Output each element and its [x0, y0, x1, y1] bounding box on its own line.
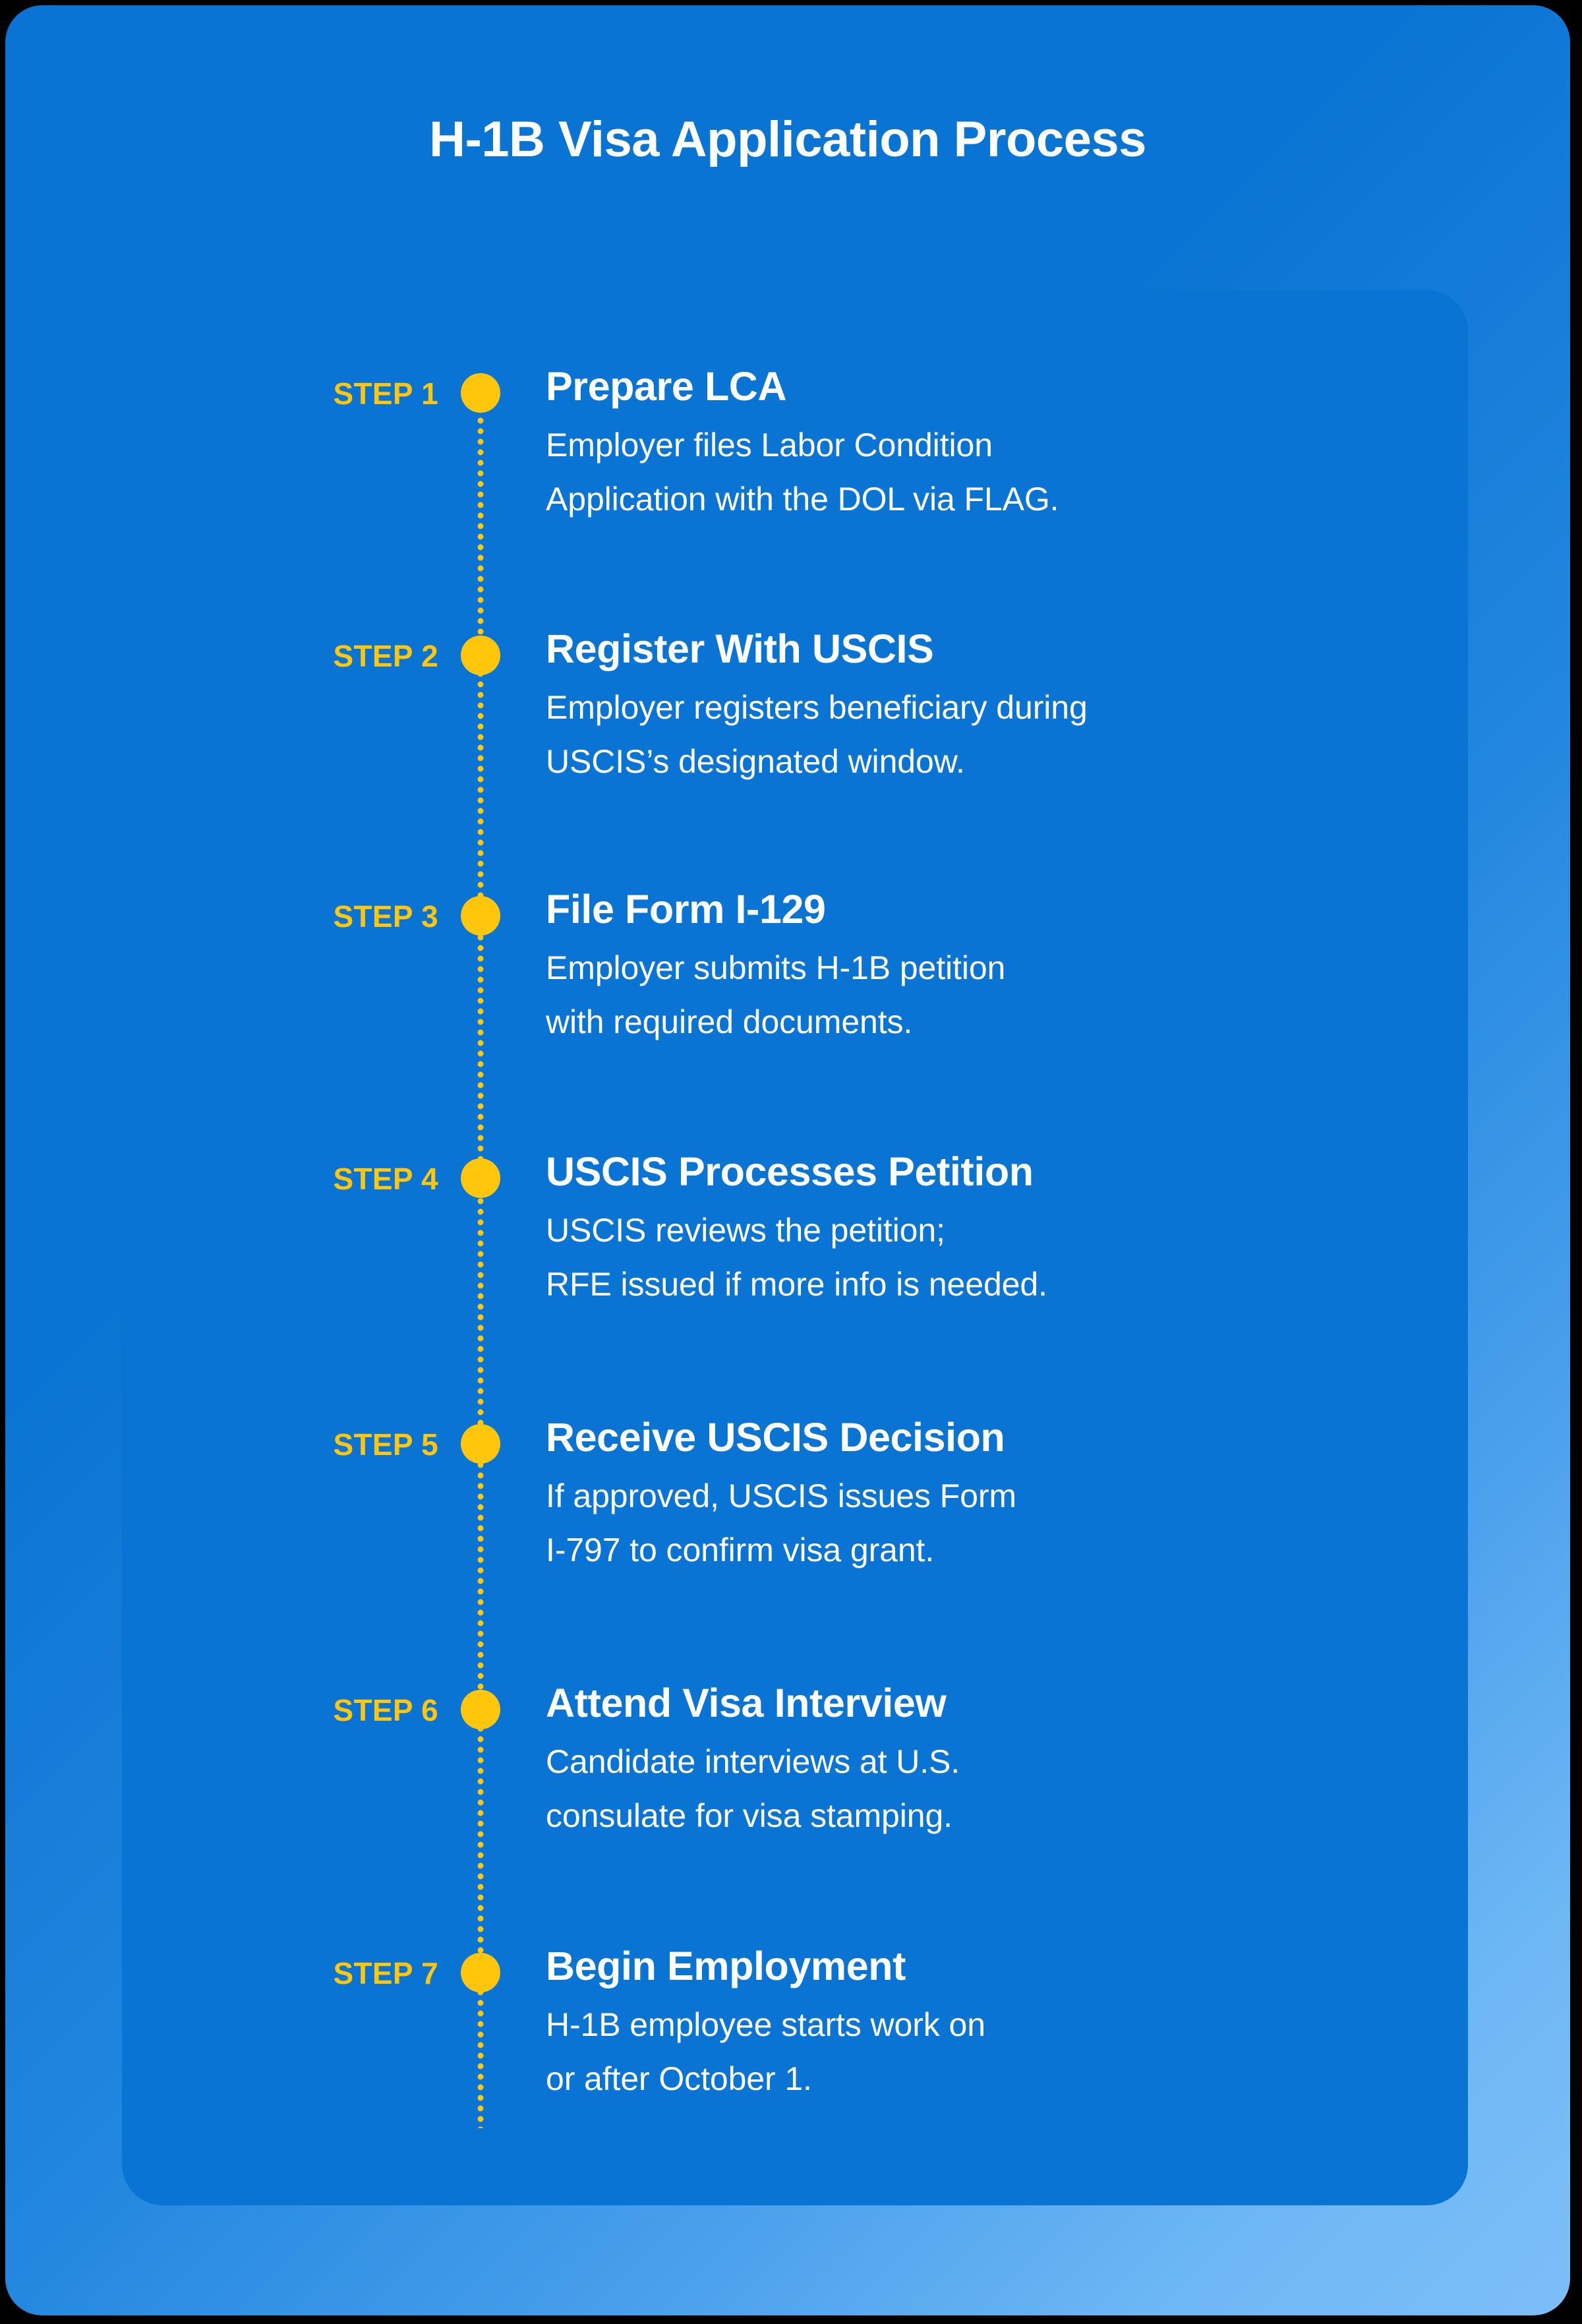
timeline-step-1[interactable]: STEP 1 Prepare LCA Employer files Labor …	[5, 363, 1570, 560]
step-marker-dot-icon-6	[461, 1690, 500, 1729]
infographic-card: H-1B Visa Application Process STEP 1 Pre…	[5, 5, 1570, 2315]
step-label-3: STEP 3	[5, 899, 438, 934]
step-label-1: STEP 1	[5, 376, 438, 411]
step-description-3: Employer submits H-1B petition with requ…	[546, 941, 1469, 1049]
step-description-4: USCIS reviews the petition; RFE issued i…	[546, 1203, 1469, 1311]
step-content-5: Receive USCIS Decision If approved, USCI…	[546, 1414, 1469, 1577]
step-description-2: Employer registers beneficiary during US…	[546, 680, 1469, 789]
step-label-4: STEP 4	[5, 1161, 438, 1197]
step-title-2: Register With USCIS	[546, 625, 1469, 672]
step-content-3: File Form I-129 Employer submits H-1B pe…	[546, 885, 1469, 1049]
step-title-7: Begin Employment	[546, 1942, 1469, 1990]
timeline-step-6[interactable]: STEP 6 Attend Visa Interview Candidate i…	[5, 1679, 1570, 1877]
step-label-6: STEP 6	[5, 1692, 438, 1728]
step-content-6: Attend Visa Interview Candidate intervie…	[546, 1679, 1469, 1843]
step-description-1: Employer files Labor Condition Applicati…	[546, 418, 1469, 526]
step-marker-dot-icon-7	[461, 1953, 500, 1992]
step-content-7: Begin Employment H-1B employee starts wo…	[546, 1942, 1469, 2106]
step-label-5: STEP 5	[5, 1427, 438, 1462]
timeline-step-5[interactable]: STEP 5 Receive USCIS Decision If approve…	[5, 1414, 1570, 1611]
step-content-4: USCIS Processes Petition USCIS reviews t…	[546, 1148, 1469, 1311]
step-marker-dot-icon-1	[461, 373, 500, 413]
step-title-3: File Form I-129	[546, 885, 1469, 933]
step-title-4: USCIS Processes Petition	[546, 1148, 1469, 1195]
step-description-7: H-1B employee starts work on or after Oc…	[546, 1998, 1469, 2106]
step-description-5: If approved, USCIS issues Form I-797 to …	[546, 1469, 1469, 1577]
step-marker-dot-icon-3	[461, 896, 500, 936]
step-content-2: Register With USCIS Employer registers b…	[546, 625, 1469, 789]
timeline-step-7[interactable]: STEP 7 Begin Employment H-1B employee st…	[5, 1942, 1570, 2140]
timeline-step-3[interactable]: STEP 3 File Form I-129 Employer submits …	[5, 885, 1570, 1083]
step-label-7: STEP 7	[5, 1955, 438, 1991]
timeline-step-4[interactable]: STEP 4 USCIS Processes Petition USCIS re…	[5, 1148, 1570, 1346]
step-marker-dot-icon-4	[461, 1158, 500, 1198]
step-marker-dot-icon-2	[461, 636, 500, 675]
step-content-1: Prepare LCA Employer files Labor Conditi…	[546, 363, 1469, 526]
step-description-6: Candidate interviews at U.S. consulate f…	[546, 1735, 1469, 1843]
timeline-step-2[interactable]: STEP 2 Register With USCIS Employer regi…	[5, 625, 1570, 823]
step-marker-dot-icon-5	[461, 1424, 500, 1464]
step-title-6: Attend Visa Interview	[546, 1679, 1469, 1727]
step-label-2: STEP 2	[5, 638, 438, 674]
infographic-canvas: H-1B Visa Application Process STEP 1 Pre…	[0, 0, 1582, 2324]
step-title-1: Prepare LCA	[546, 363, 1469, 410]
step-title-5: Receive USCIS Decision	[546, 1414, 1469, 1461]
page-title: H-1B Visa Application Process	[5, 111, 1570, 168]
